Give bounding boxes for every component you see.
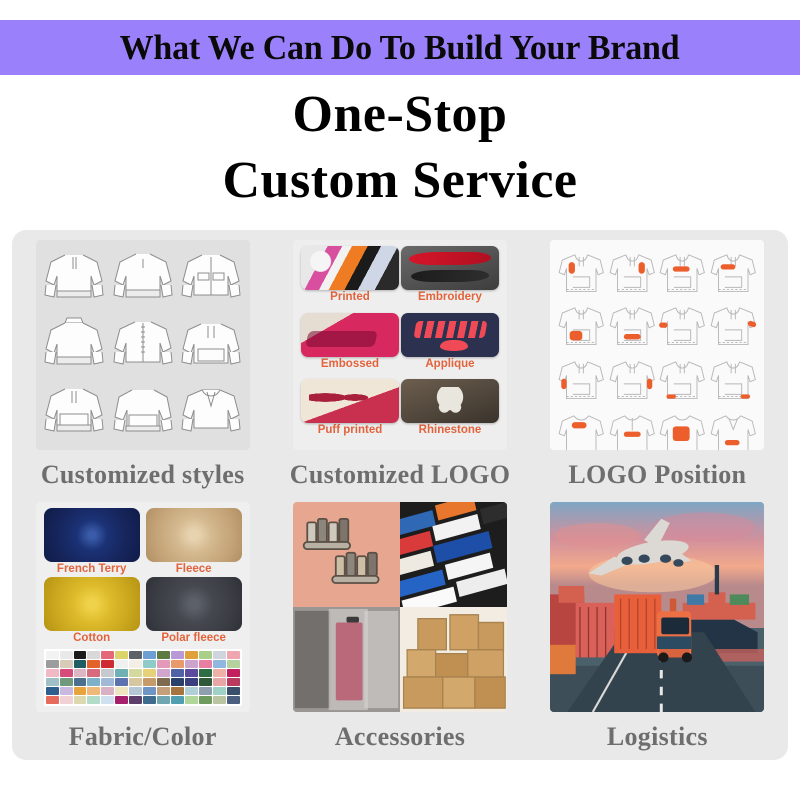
logo-technique-caption: Applique <box>425 358 474 370</box>
panel-accessories[interactable]: Accessories <box>271 496 528 758</box>
color-chip <box>101 687 114 695</box>
subtitle-line-1: One-Stop <box>0 82 800 148</box>
logo-position-grid <box>550 240 764 450</box>
hoodie-sketch-icon <box>177 379 244 445</box>
sketch-grid <box>36 240 250 450</box>
hoodie-position-icon <box>708 247 759 300</box>
embroidery-sample-image <box>401 246 499 290</box>
color-chip <box>227 687 240 695</box>
embossed-sample-image <box>301 313 399 357</box>
color-chip <box>143 660 156 668</box>
color-chip <box>129 678 142 686</box>
feature-card: Customized styles Printed Embroidery E <box>12 230 788 760</box>
color-chip <box>227 651 240 659</box>
french-terry-swatch <box>44 508 140 562</box>
color-chip <box>87 687 100 695</box>
color-chip <box>171 678 184 686</box>
color-chip <box>157 669 170 677</box>
color-chip <box>60 669 73 677</box>
color-chip <box>157 660 170 668</box>
color-chip <box>143 678 156 686</box>
position-grid <box>550 240 764 450</box>
hoodie-position-icon <box>657 300 708 353</box>
color-chip <box>143 651 156 659</box>
color-chip <box>74 678 87 686</box>
fabric-caption: Fleece <box>176 563 212 575</box>
color-chip <box>74 687 87 695</box>
hoodie-position-icon <box>657 354 708 407</box>
color-chip <box>101 678 114 686</box>
color-chip <box>227 669 240 677</box>
logistics-photo <box>550 502 764 712</box>
color-chip <box>171 669 184 677</box>
logo-technique-embossed: Embossed <box>301 313 399 378</box>
fabric-caption: Polar fleece <box>161 632 226 644</box>
panel-customized-logo[interactable]: Printed Embroidery Embossed Applique <box>271 234 528 496</box>
panel-logo-position[interactable]: LOGO Position <box>529 234 786 496</box>
color-chip <box>115 696 128 704</box>
hoodie-back-position-icon <box>607 407 658 450</box>
hoodie-sketch-icon <box>109 379 176 445</box>
color-chip <box>129 687 142 695</box>
panel-label: Logistics <box>607 722 708 752</box>
color-chip <box>185 687 198 695</box>
subtitle-line-2: Custom Service <box>0 148 800 214</box>
color-chip <box>157 651 170 659</box>
color-chip <box>87 660 100 668</box>
color-chip <box>185 678 198 686</box>
color-chip <box>46 669 59 677</box>
panel-logistics[interactable]: Logistics <box>529 496 786 758</box>
color-chip <box>60 651 73 659</box>
color-chip <box>101 660 114 668</box>
color-chip <box>74 660 87 668</box>
accessories-media <box>293 502 507 712</box>
color-chip <box>74 696 87 704</box>
color-chip <box>60 696 73 704</box>
color-chip <box>185 651 198 659</box>
hoodie-sketch-icon <box>177 245 244 311</box>
hoodie-position-icon <box>657 247 708 300</box>
color-chip <box>101 651 114 659</box>
cartons-image <box>400 607 507 712</box>
color-chip <box>213 696 226 704</box>
fabric-cotton: Cotton <box>44 577 140 646</box>
logo-technique-caption: Puff printed <box>318 424 383 436</box>
color-chip <box>46 660 59 668</box>
logistics-media <box>550 502 764 712</box>
poly-bags-image <box>293 607 400 712</box>
color-chip <box>143 669 156 677</box>
color-chip <box>115 660 128 668</box>
fleece-swatch <box>146 508 242 562</box>
color-chip <box>199 669 212 677</box>
logo-grid: Printed Embroidery Embossed Applique <box>293 240 507 450</box>
color-chart <box>44 649 242 706</box>
color-chip <box>87 696 100 704</box>
color-chip <box>46 678 59 686</box>
logo-technique-puff-printed: Puff printed <box>301 379 399 444</box>
color-chip <box>74 669 87 677</box>
color-chip <box>60 687 73 695</box>
panel-label: Customized styles <box>41 460 245 490</box>
header-banner: What We Can Do To Build Your Brand <box>0 20 800 75</box>
color-chip <box>213 678 226 686</box>
accessories-grid <box>293 502 507 712</box>
logo-technique-applique: Applique <box>401 313 499 378</box>
fabric-caption: French Terry <box>57 563 126 575</box>
fabric-row-2: Cotton Polar fleece <box>44 577 242 646</box>
color-chip <box>199 696 212 704</box>
color-chip <box>227 660 240 668</box>
color-chip <box>213 651 226 659</box>
polar-fleece-swatch <box>146 577 242 631</box>
color-chip <box>157 696 170 704</box>
logo-technique-printed: Printed <box>301 246 399 311</box>
fabric-wrap: French Terry Fleece Cotton <box>36 502 250 712</box>
rhinestone-sample-image <box>401 379 499 423</box>
logo-technique-embroidery: Embroidery <box>401 246 499 311</box>
panel-label: LOGO Position <box>568 460 746 490</box>
color-chip <box>129 651 142 659</box>
color-chip <box>74 651 87 659</box>
color-chip <box>199 651 212 659</box>
fabric-caption: Cotton <box>73 632 110 644</box>
hoodie-sketch-icon <box>109 245 176 311</box>
color-chip <box>143 687 156 695</box>
cotton-swatch <box>44 577 140 631</box>
hoodie-position-icon <box>708 300 759 353</box>
color-chip <box>157 687 170 695</box>
panel-label: Customized LOGO <box>290 460 510 490</box>
banner-headline: What We Can Do To Build Your Brand <box>120 28 680 68</box>
color-chip <box>129 696 142 704</box>
hoodie-position-icon <box>607 300 658 353</box>
subtitle-block: One-Stop Custom Service <box>0 82 800 214</box>
color-chip <box>115 678 128 686</box>
color-chip <box>115 669 128 677</box>
color-chip <box>185 669 198 677</box>
color-chip <box>171 651 184 659</box>
hoodie-sketch-icon <box>41 379 108 445</box>
hoodie-sketch-icon <box>41 245 108 311</box>
color-chip <box>46 651 59 659</box>
printed-sample-image <box>301 246 399 290</box>
color-chip <box>171 660 184 668</box>
color-chip <box>46 696 59 704</box>
fabric-color-media: French Terry Fleece Cotton <box>36 502 250 712</box>
fabric-french-terry: French Terry <box>44 508 140 577</box>
hoodie-position-icon <box>607 354 658 407</box>
color-chip <box>143 696 156 704</box>
hoodie-position-icon <box>556 354 607 407</box>
fabric-polar-fleece: Polar fleece <box>146 577 242 646</box>
puff-printed-sample-image <box>301 379 399 423</box>
color-chip <box>87 651 100 659</box>
color-chip <box>185 696 198 704</box>
hoodie-position-icon <box>607 247 658 300</box>
hoodie-back-position-icon <box>708 407 759 450</box>
hoodie-sketch-icon <box>109 312 176 378</box>
logo-technique-caption: Embroidery <box>418 291 482 303</box>
applique-sample-image <box>401 313 499 357</box>
hoodie-sketch-icon <box>177 312 244 378</box>
color-chip <box>101 669 114 677</box>
hoodie-sketch-grid <box>36 240 250 450</box>
zipper-pulls-image <box>293 502 400 607</box>
color-chip <box>171 687 184 695</box>
color-chip <box>213 687 226 695</box>
panel-customized-styles[interactable]: Customized styles <box>14 234 271 496</box>
woven-labels-image <box>400 502 507 607</box>
color-chip <box>213 660 226 668</box>
color-chip <box>46 687 59 695</box>
logo-technique-caption: Printed <box>330 291 370 303</box>
color-chip <box>101 696 114 704</box>
logo-technique-rhinestone: Rhinestone <box>401 379 499 444</box>
promo-banner-page: What We Can Do To Build Your Brand One-S… <box>0 0 800 800</box>
color-chip <box>227 678 240 686</box>
logo-technique-caption: Embossed <box>321 358 379 370</box>
color-chip <box>171 696 184 704</box>
logo-technique-caption: Rhinestone <box>419 424 482 436</box>
color-chip <box>87 678 100 686</box>
logo-technique-grid: Printed Embroidery Embossed Applique <box>293 240 507 450</box>
color-chip <box>199 660 212 668</box>
color-chip <box>157 678 170 686</box>
color-chip <box>115 687 128 695</box>
hoodie-sketch-icon <box>41 312 108 378</box>
panel-label: Accessories <box>335 722 465 752</box>
color-chip <box>129 669 142 677</box>
color-chip <box>185 660 198 668</box>
color-chip <box>227 696 240 704</box>
hoodie-back-position-icon <box>657 407 708 450</box>
color-chip <box>60 678 73 686</box>
color-chip <box>213 669 226 677</box>
color-chip <box>199 678 212 686</box>
color-chip <box>115 651 128 659</box>
fabric-row-1: French Terry Fleece <box>44 508 242 577</box>
color-chip <box>60 660 73 668</box>
color-chip <box>87 669 100 677</box>
hoodie-position-icon <box>556 247 607 300</box>
fabric-fleece: Fleece <box>146 508 242 577</box>
hoodie-position-icon <box>708 354 759 407</box>
hoodie-back-position-icon <box>556 407 607 450</box>
color-chip <box>129 660 142 668</box>
hoodie-position-icon <box>556 300 607 353</box>
panel-label: Fabric/Color <box>69 722 217 752</box>
panel-fabric-color[interactable]: French Terry Fleece Cotton <box>14 496 271 758</box>
color-chip <box>199 687 212 695</box>
